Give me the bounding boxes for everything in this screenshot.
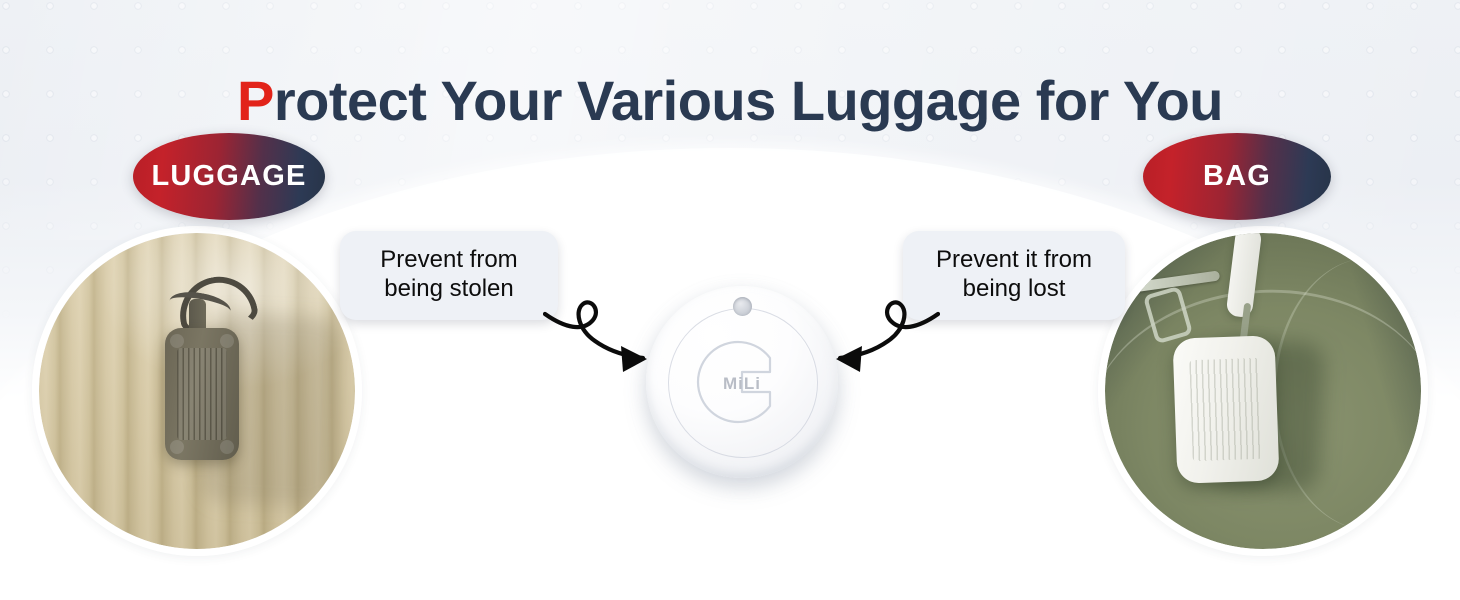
title-rest: rotect Your Various Luggage for You [274, 69, 1223, 132]
device-brand-label: MiLi [646, 374, 838, 394]
promo-banner: Protect Your Various Luggage for You [0, 0, 1460, 600]
page-title: Protect Your Various Luggage for You [0, 68, 1460, 133]
callout-prevent-stolen: Prevent from being stolen [340, 231, 558, 320]
photo-luggage-inner [39, 233, 355, 549]
badge-luggage: LUGGAGE [133, 133, 325, 220]
photo-bag [1098, 226, 1428, 556]
badge-bag: BAG [1143, 133, 1331, 220]
device-keyring-hole-icon [733, 297, 752, 316]
mili-tracker-device: MiLi [646, 286, 838, 478]
luggage-tag-body [165, 328, 239, 460]
badge-bag-label: BAG [1203, 160, 1271, 193]
tag-corner-bl [170, 440, 184, 454]
callout-right-line1: Prevent it from [923, 245, 1105, 274]
curly-arrow-right-icon [543, 288, 663, 398]
badge-luggage-label: LUGGAGE [151, 160, 306, 193]
callout-left-line1: Prevent from [360, 245, 538, 274]
photo-luggage [32, 226, 362, 556]
title-first-letter: P [237, 69, 274, 132]
tag-corner-tl [170, 334, 184, 348]
callout-right-line2: being lost [923, 274, 1105, 303]
curly-arrow-left-icon [820, 288, 940, 398]
tag-corner-tr [220, 334, 234, 348]
bag-tag-body [1172, 336, 1279, 484]
callout-left-line2: being stolen [360, 274, 538, 303]
tag-corner-br [220, 440, 234, 454]
photo-bag-inner [1105, 233, 1421, 549]
